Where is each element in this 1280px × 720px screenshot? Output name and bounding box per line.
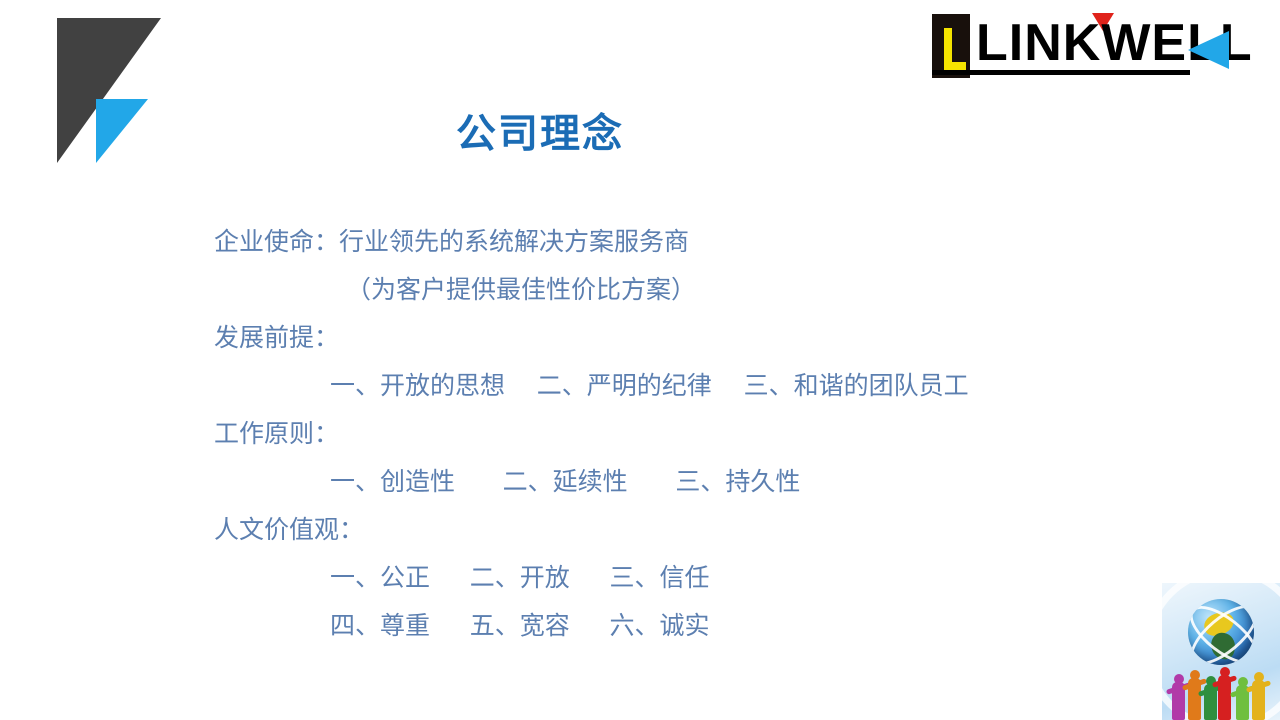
body-text-block: 企业使命：行业领先的系统解决方案服务商 （为客户提供最佳性价比方案） 发展前提：… — [214, 218, 1214, 650]
logo-badge-square — [932, 14, 970, 78]
body-line: 四、尊重 五、宽容 六、诚实 — [214, 602, 1214, 650]
body-line: 人文价值观： — [214, 506, 1214, 554]
page-title: 公司理念 — [0, 108, 1080, 160]
person-figure — [1188, 678, 1201, 720]
slide-canvas: LINKWELL 公司理念 企业使命：行业领先的系统解决方案服务商 （为客户提供… — [0, 0, 1280, 720]
linkwell-logo: LINKWELL — [928, 8, 1236, 90]
body-line: 一、创造性 二、延续性 三、持久性 — [214, 458, 1214, 506]
logo-underline — [932, 70, 1190, 75]
body-line: 工作原则： — [214, 410, 1214, 458]
logo-blue-triangle-icon — [1188, 31, 1229, 69]
body-line: 发展前提： — [214, 314, 1214, 362]
body-line: 一、开放的思想 二、严明的纪律 三、和谐的团队员工 — [214, 362, 1214, 410]
person-figure — [1252, 680, 1265, 720]
logo-letter-l-icon — [944, 28, 966, 70]
person-figure — [1204, 684, 1217, 720]
body-line: （为客户提供最佳性价比方案） — [214, 266, 1214, 314]
body-line: 一、公正 二、开放 三、信任 — [214, 554, 1214, 602]
person-figure — [1218, 675, 1231, 720]
decorative-arrow-mark — [0, 0, 200, 190]
people-group-icon — [1162, 657, 1280, 720]
body-line: 企业使命：行业领先的系统解决方案服务商 — [214, 218, 1214, 266]
corner-illustration — [1162, 583, 1280, 720]
globe-icon — [1188, 599, 1254, 665]
